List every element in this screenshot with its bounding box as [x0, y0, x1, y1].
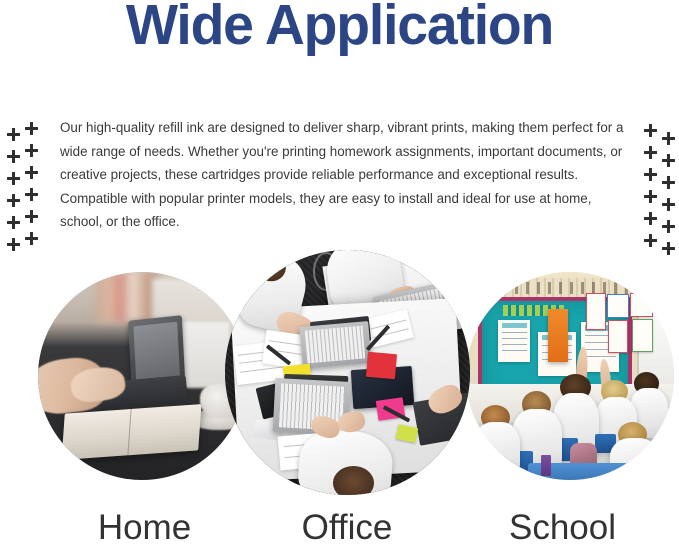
showcase-label-school: School: [505, 508, 620, 548]
board-poster: [498, 320, 530, 362]
number-card: [586, 293, 605, 330]
number-card: [632, 319, 653, 352]
showcase-labels: Home Office School: [0, 508, 679, 554]
showcase-label-home: Home: [97, 508, 192, 548]
number-card: [630, 293, 653, 317]
office-laptop: [299, 321, 371, 368]
home-scene: [38, 272, 246, 480]
showcase-image-office: [225, 250, 470, 495]
classroom-pencil-cup: [541, 455, 551, 476]
board-orange-poster: [548, 309, 568, 363]
office-keyboard: [305, 325, 365, 363]
office-sticky-note: [366, 352, 397, 379]
home-bookshelf: [96, 272, 158, 322]
number-card: [608, 320, 627, 353]
showcase-image-home: [38, 272, 246, 480]
school-scene: [466, 272, 674, 480]
showcase-label-office: Office: [297, 508, 397, 548]
showcase-image-school: [466, 272, 674, 480]
office-scene: [225, 250, 470, 495]
student: [474, 422, 520, 476]
classroom-number-cards: [585, 293, 664, 355]
wide-application-banner: Wide Application Our high-quality refill…: [0, 0, 679, 554]
number-card: [607, 294, 630, 318]
showcase-circles: [0, 0, 679, 554]
